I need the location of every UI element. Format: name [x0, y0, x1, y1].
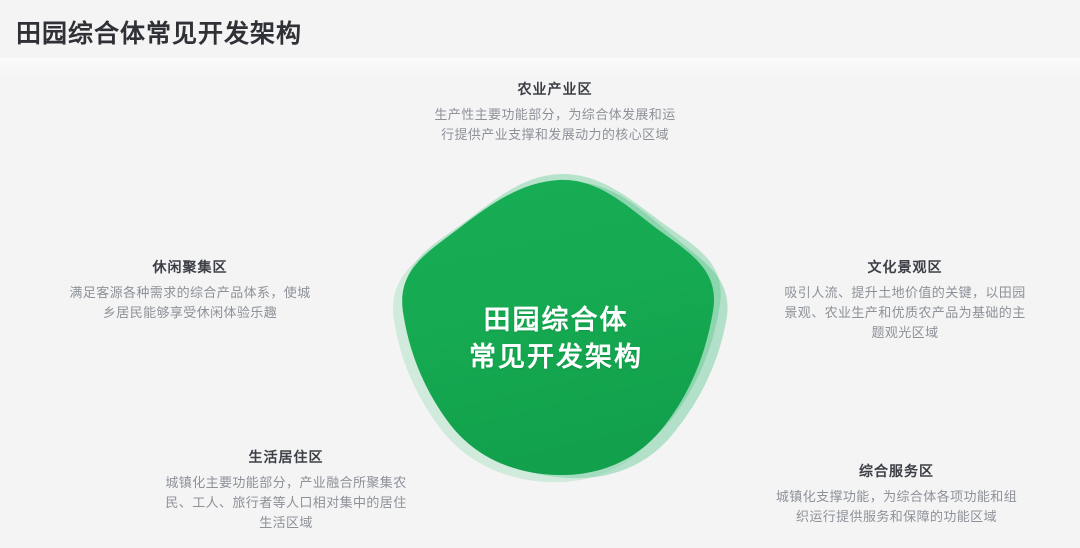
zone-culture-desc-line-1: 吸引人流、提升土地价值的关键，以田园 [745, 283, 1065, 303]
zone-service-desc-line-1: 城镇化支撑功能，为综合体各项功能和组 [724, 487, 1069, 507]
zone-agriculture-desc-line-2: 行提供产业支撑和发展动力的核心区域 [385, 125, 725, 145]
zone-agriculture-desc-line-1: 生产性主要功能部分，为综合体发展和运 [385, 105, 725, 125]
zone-culture-description: 吸引人流、提升土地价值的关键，以田园 景观、农业生产和优质农产品为基础的主 题观… [745, 283, 1065, 343]
zone-living: 生活居住区 城镇化主要功能部分，产业融合所聚集农 民、工人、旅行者等人口相对集中… [126, 448, 446, 533]
center-label-line-1: 田园综合体 [368, 302, 744, 339]
zone-living-desc-line-2: 民、工人、旅行者等人口相对集中的居住 [126, 493, 446, 513]
zone-living-desc-line-3: 生活区域 [126, 513, 446, 533]
center-label: 田园综合体 常见开发架构 [368, 302, 744, 376]
zone-leisure-desc-line-1: 满足客源各种需求的综合产品体系，使城 [40, 283, 340, 303]
zone-living-title: 生活居住区 [126, 448, 446, 467]
header-divider-band [0, 58, 1080, 80]
center-label-line-2: 常见开发架构 [368, 339, 744, 376]
zone-living-desc-line-1: 城镇化主要功能部分，产业融合所聚集农 [126, 473, 446, 493]
zone-culture-desc-line-2: 景观、农业生产和优质农产品为基础的主 [745, 303, 1065, 323]
zone-leisure-description: 满足客源各种需求的综合产品体系，使城 乡居民能够享受休闲体验乐趣 [40, 283, 340, 323]
zone-agriculture-description: 生产性主要功能部分，为综合体发展和运 行提供产业支撑和发展动力的核心区域 [385, 105, 725, 145]
zone-leisure-title: 休闲聚集区 [40, 258, 340, 277]
zone-leisure-desc-line-2: 乡居民能够享受休闲体验乐趣 [40, 303, 340, 323]
page-title: 田园综合体常见开发架构 [16, 14, 302, 50]
zone-service-desc-line-2: 织运行提供服务和保障的功能区域 [724, 507, 1069, 527]
zone-living-description: 城镇化主要功能部分，产业融合所聚集农 民、工人、旅行者等人口相对集中的居住 生活… [126, 473, 446, 533]
zone-culture: 文化景观区 吸引人流、提升土地价值的关键，以田园 景观、农业生产和优质农产品为基… [745, 258, 1065, 343]
zone-agriculture: 农业产业区 生产性主要功能部分，为综合体发展和运 行提供产业支撑和发展动力的核心… [385, 80, 725, 145]
zone-leisure: 休闲聚集区 满足客源各种需求的综合产品体系，使城 乡居民能够享受休闲体验乐趣 [40, 258, 340, 323]
zone-culture-desc-line-3: 题观光区域 [745, 323, 1065, 343]
zone-service-title: 综合服务区 [724, 462, 1069, 481]
zone-service-description: 城镇化支撑功能，为综合体各项功能和组 织运行提供服务和保障的功能区域 [724, 487, 1069, 527]
zone-agriculture-title: 农业产业区 [385, 80, 725, 99]
zone-culture-title: 文化景观区 [745, 258, 1065, 277]
zone-service: 综合服务区 城镇化支撑功能，为综合体各项功能和组 织运行提供服务和保障的功能区域 [724, 462, 1069, 527]
